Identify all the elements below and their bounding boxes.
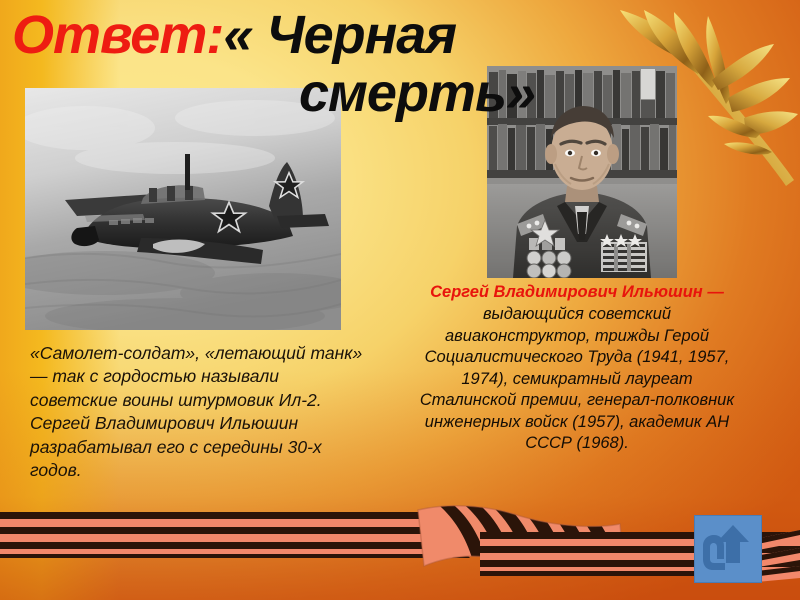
return-arrow-icon [695, 516, 761, 582]
slide-title: Ответ:« Черная смерть» [12, 8, 672, 120]
ilyushin-bio-body: выдающийся советский авиаконструктор, тр… [420, 305, 734, 452]
caption-left-text: «Самолет-солдат», «летающий танк» — так … [30, 342, 366, 483]
st-george-ribbon [0, 472, 800, 592]
presentation-slide: Ответ:« Черная смерть» [0, 0, 800, 600]
title-line-1: Ответ:« Черная [12, 8, 672, 62]
caption-right-text: Сергей Владимирович Ильюшин —выдающийся … [418, 282, 736, 455]
il-2-sturmovik-photo [25, 88, 341, 330]
title-quote-part-1: « Черная [223, 5, 456, 65]
title-answer-word: Ответ: [12, 5, 223, 65]
return-arrow-button[interactable] [694, 515, 762, 583]
title-line-2: смерть» [12, 66, 672, 120]
ilyushin-name-heading: Сергей Владимирович Ильюшин — [418, 282, 736, 303]
